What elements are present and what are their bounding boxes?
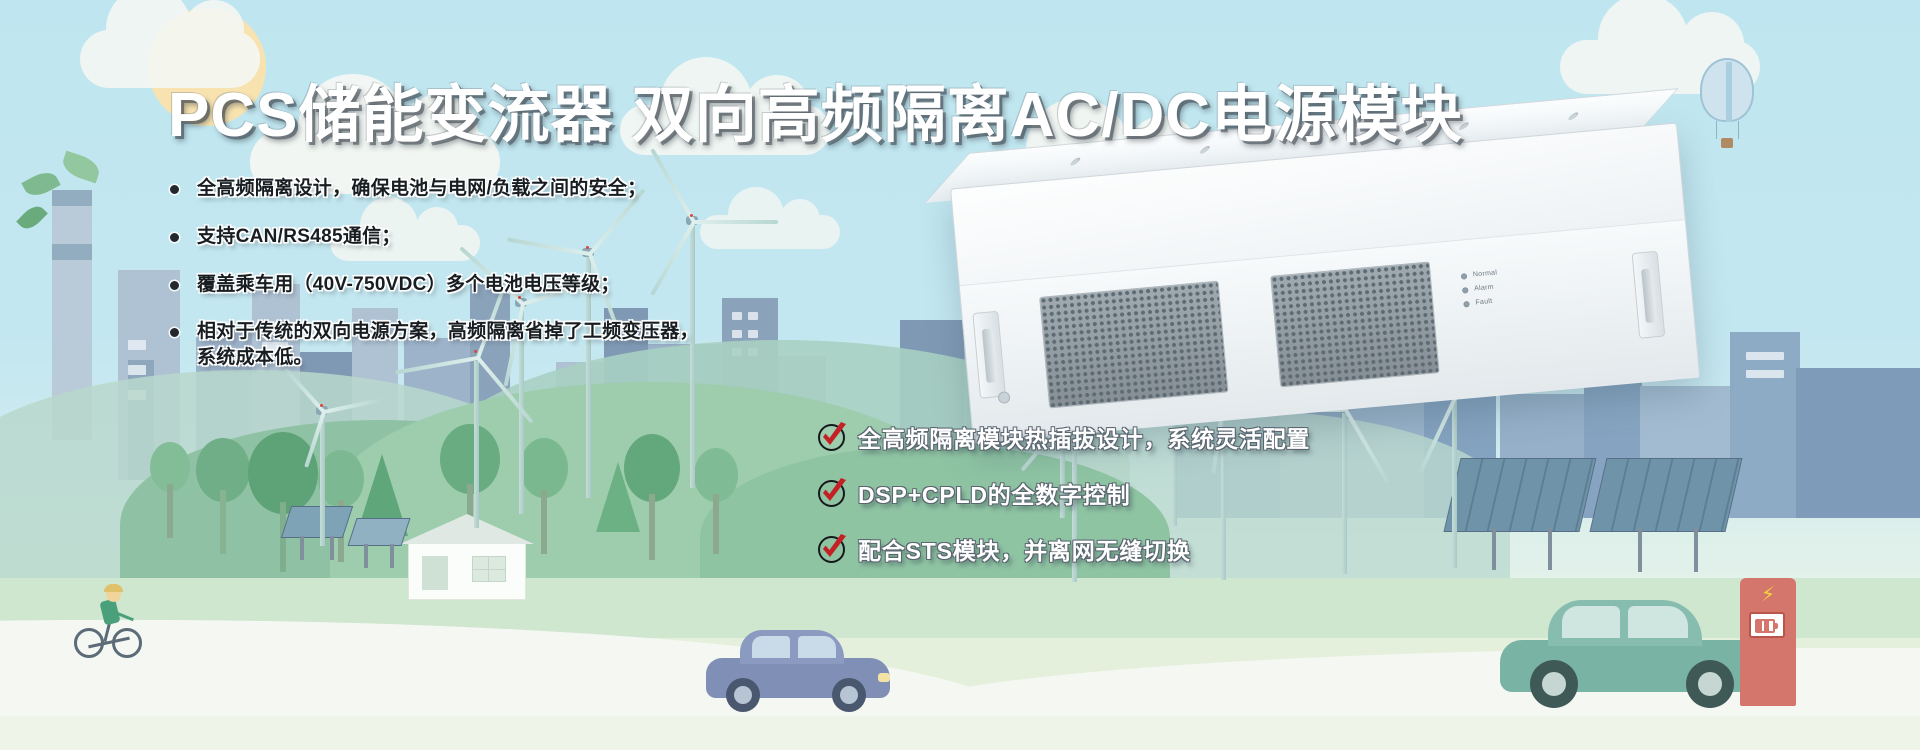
led-indicator-alarm: Alarm [1462, 283, 1499, 293]
check-circle-icon [818, 424, 845, 451]
led-indicator-panel: Normal Alarm Fault [1461, 269, 1501, 314]
bullet-text: 全高频隔离设计，确保电池与电网/负载之间的安全； [197, 176, 646, 202]
bullet-item-isolation-design: 全高频隔离设计，确保电池与电网/负载之间的安全； [170, 176, 870, 202]
led-dot-icon [1462, 287, 1469, 294]
bullet-item-communication: 支持CAN/RS485通信； [170, 224, 870, 250]
bullet-dot-icon [170, 281, 179, 290]
feature-bullet-list: 全高频隔离设计，确保电池与电网/负载之间的安全； 支持CAN/RS485通信； … [170, 176, 870, 393]
cyclist-icon [72, 582, 146, 658]
bullet-item-voltage-range: 覆盖乘车用（40V-750VDC）多个电池电压等级； [170, 272, 870, 298]
vent-grille-right [1270, 261, 1439, 387]
checklist-text: 全高频隔离模块热插拔设计，系统灵活配置 [858, 420, 1310, 454]
bullet-dot-icon [170, 328, 179, 337]
solar-panel-array [1598, 458, 1734, 572]
hot-air-balloon-icon [1700, 58, 1754, 154]
check-circle-icon [818, 480, 845, 507]
bullet-text: 相对于传统的双向电源方案，高频隔离省掉了工频变压器， 系统成本低。 [197, 319, 699, 371]
led-dot-icon [1461, 273, 1468, 280]
chassis-handle-left [972, 311, 1006, 399]
checklist-item-sts-module: 配合STS模块，并离网无缝切换 [818, 532, 1438, 566]
bullet-item-cost-advantage: 相对于传统的双向电源方案，高频隔离省掉了工频变压器， 系统成本低。 [170, 319, 870, 371]
solar-panel-array [352, 518, 406, 568]
led-dot-icon [1463, 301, 1470, 308]
page-title: PCS储能变流器 双向高频隔离AC/DC电源模块 [168, 64, 1463, 154]
chassis-handle-right [1632, 251, 1666, 339]
lightning-bolt-icon: ⚡ [1760, 584, 1776, 606]
led-indicator-normal: Normal [1461, 269, 1498, 279]
leaf-icon [60, 151, 103, 184]
vent-grille-left [1039, 281, 1228, 409]
led-label: Alarm [1474, 284, 1494, 293]
bullet-text: 支持CAN/RS485通信； [197, 224, 401, 250]
checklist-item-digital-control: DSP+CPLD的全数字控制 [818, 476, 1438, 510]
leaf-icon [16, 202, 48, 234]
bullet-dot-icon [170, 185, 179, 194]
bullet-dot-icon [170, 233, 179, 242]
promo-banner: Normal Alarm Fault [0, 0, 1920, 750]
blue-car-icon [706, 632, 890, 712]
led-label: Normal [1473, 269, 1498, 278]
bullet-text: 覆盖乘车用（40V-750VDC）多个电池电压等级； [197, 272, 620, 298]
charger-screen [1749, 612, 1785, 638]
green-ev-car-icon [1500, 596, 1770, 708]
checklist: 全高频隔离模块热插拔设计，系统灵活配置 DSP+CPLD的全数字控制 配合STS… [818, 420, 1438, 588]
ev-charging-station-icon: ⚡ [1740, 578, 1796, 706]
check-circle-icon [818, 536, 845, 563]
led-indicator-fault: Fault [1463, 297, 1500, 307]
checklist-item-hot-swap: 全高频隔离模块热插拔设计，系统灵活配置 [818, 420, 1438, 454]
led-label: Fault [1475, 298, 1493, 307]
checklist-text: DSP+CPLD的全数字控制 [858, 476, 1131, 510]
checklist-text: 配合STS模块，并离网无缝切换 [858, 532, 1191, 566]
